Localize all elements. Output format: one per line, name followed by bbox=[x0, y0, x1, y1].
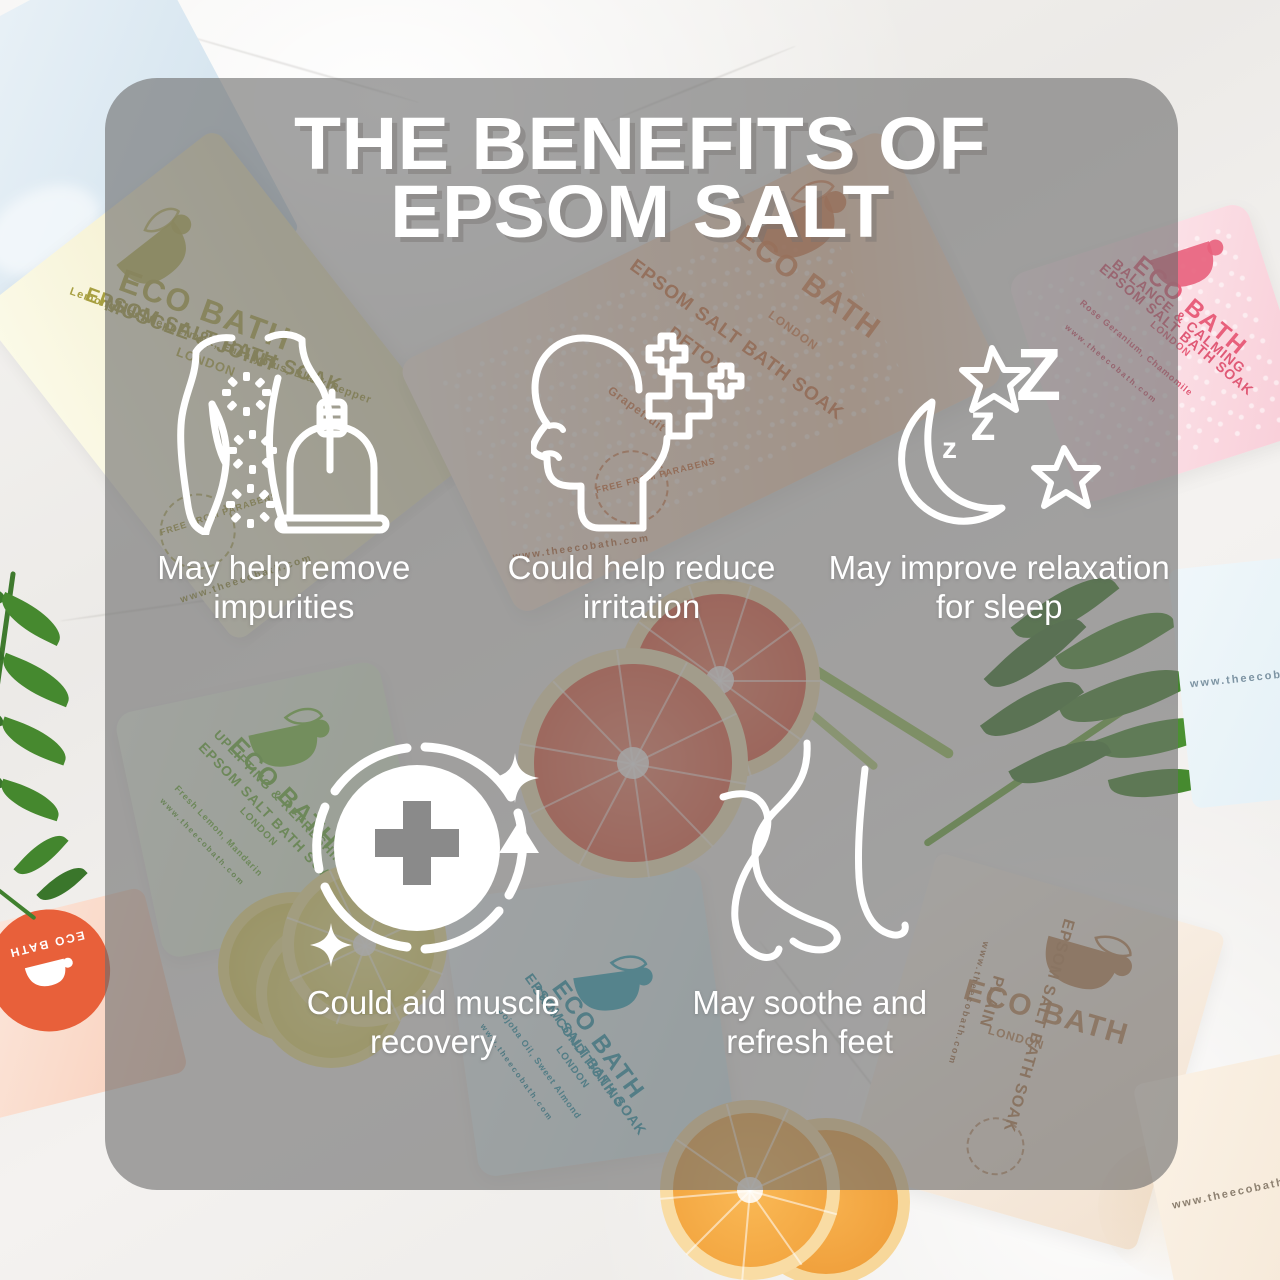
benefit-caption: Could help reduce irritation bbox=[477, 549, 807, 626]
svg-text:z: z bbox=[942, 432, 957, 465]
moon-sleep-icon: z z Z bbox=[886, 320, 1112, 535]
head-detox-icon bbox=[531, 320, 753, 535]
title-line-2: EPSOM SALT bbox=[0, 178, 1280, 246]
benefit-item-irritation[interactable]: Could help reduce irritation bbox=[463, 320, 821, 626]
benefits-grid: May help remove impurities bbox=[105, 320, 1178, 1061]
benefit-caption: May soothe and refresh feet bbox=[645, 984, 975, 1061]
svg-text:z: z bbox=[970, 394, 996, 452]
benefit-item-sleep[interactable]: z z Z May improve relaxation for sleep bbox=[820, 320, 1178, 626]
legs-feet-icon bbox=[685, 730, 935, 970]
cupping-therapy-icon bbox=[168, 320, 400, 535]
benefit-caption: May help remove impurities bbox=[119, 549, 449, 626]
page-title: THE BENEFITS OF EPSOM SALT bbox=[0, 110, 1280, 246]
benefit-caption: May improve relaxation for sleep bbox=[820, 549, 1178, 626]
benefits-row-bottom: Could aid muscle recovery May soothe and… bbox=[105, 730, 1178, 1061]
recovery-cross-icon bbox=[303, 730, 563, 970]
benefits-row-top: May help remove impurities bbox=[105, 320, 1178, 626]
benefit-item-feet[interactable]: May soothe and refresh feet bbox=[622, 730, 999, 1061]
benefit-caption: Could aid muscle recovery bbox=[268, 984, 598, 1061]
benefit-item-impurities[interactable]: May help remove impurities bbox=[105, 320, 463, 626]
svg-text:Z: Z bbox=[1016, 333, 1061, 416]
infographic-content: THE BENEFITS OF EPSOM SALT bbox=[0, 0, 1280, 1280]
benefit-item-recovery[interactable]: Could aid muscle recovery bbox=[245, 730, 622, 1061]
